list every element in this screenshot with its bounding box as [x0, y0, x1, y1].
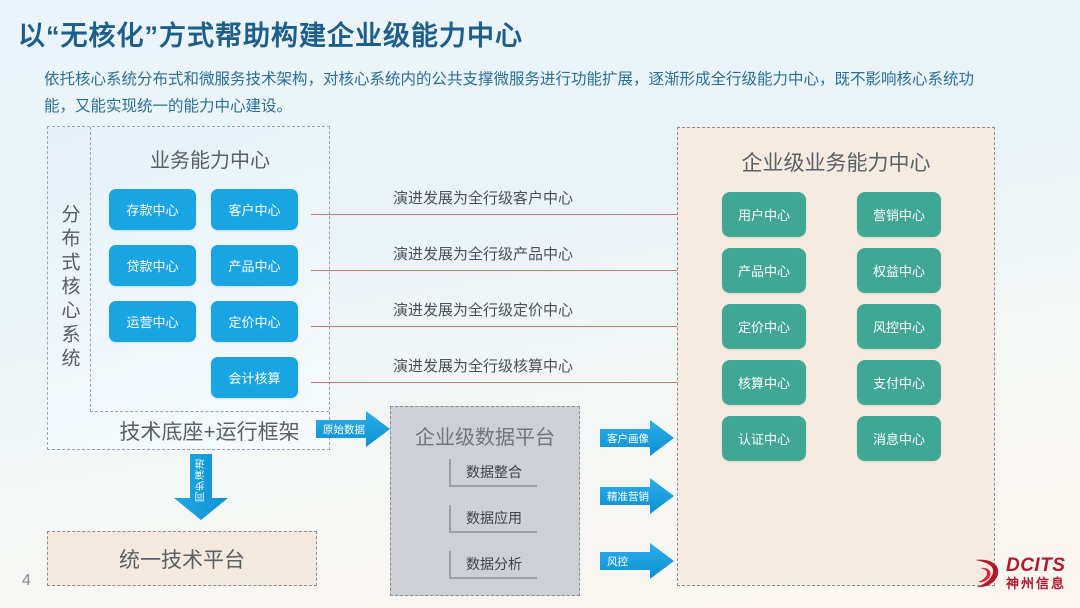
data-platform-item-application[interactable]: 数据应用	[449, 505, 537, 533]
green-box-label: 权益中心	[873, 261, 925, 280]
data-platform-item-label: 数据应用	[466, 508, 522, 528]
sync-evolution-arrow: 同步演进	[174, 454, 228, 520]
green-box-label: 消息中心	[873, 429, 925, 448]
evolution-arrow-4-line	[311, 382, 723, 383]
blue-box-loan-center[interactable]: 贷款中心	[109, 245, 196, 286]
green-box-risk-control-center[interactable]: 风控中心	[857, 304, 941, 349]
green-box-label: 核算中心	[738, 373, 790, 392]
green-box-marketing-center[interactable]: 营销中心	[857, 192, 941, 237]
dcits-logo-icon	[971, 556, 1001, 590]
blue-box-accounting[interactable]: 会计核算	[211, 357, 298, 398]
evolution-arrow-3-line	[311, 326, 723, 327]
green-box-pricing-center[interactable]: 定价中心	[722, 304, 806, 349]
business-capability-center-panel: 业务能力中心 存款中心 贷款中心 运营中心 客户中心 产品中心 定价中心	[90, 127, 329, 412]
data-platform-item-integration[interactable]: 数据整合	[449, 459, 537, 487]
precision-marketing-arrow: 精准营销	[600, 478, 674, 514]
precision-marketing-arrow-label: 精准营销	[600, 478, 649, 514]
raw-data-arrow: 原始数据	[316, 411, 390, 447]
risk-control-arrow: 风控	[600, 543, 674, 579]
green-box-payment-center[interactable]: 支付中心	[857, 360, 941, 405]
raw-data-arrow-label: 原始数据	[316, 411, 365, 447]
evolution-arrow-1-line	[311, 214, 723, 215]
slide: 以“无核化”方式帮助构建企业级能力中心 依托核心系统分布式和微服务技术架构，对核…	[0, 0, 1080, 608]
data-platform-item-label: 数据分析	[466, 554, 522, 574]
blue-box-label: 产品中心	[228, 256, 280, 275]
brand-name-cn: 神州信息	[1006, 577, 1066, 590]
green-box-accounting-center[interactable]: 核算中心	[722, 360, 806, 405]
customer-profile-arrow: 客户画像	[600, 420, 674, 456]
blue-box-label: 定价中心	[228, 312, 280, 331]
sync-evolution-arrow-label: 同步演进	[194, 458, 209, 502]
unified-tech-platform-label: 统一技术平台	[119, 544, 245, 574]
blue-box-product-center[interactable]: 产品中心	[211, 245, 298, 286]
enterprise-capability-center-title: 企业级业务能力中心	[678, 147, 994, 177]
tech-base-label: 技术底座+运行框架	[89, 411, 330, 450]
distributed-core-system-label: 分布式核心系统	[48, 127, 90, 449]
customer-profile-arrow-label: 客户画像	[600, 420, 649, 456]
blue-box-label: 贷款中心	[126, 256, 178, 275]
evolution-arrow-3-label: 演进发展为全行级定价中心	[393, 299, 573, 320]
unified-tech-platform-box: 统一技术平台	[47, 531, 317, 586]
blue-box-operation-center[interactable]: 运营中心	[109, 301, 196, 342]
green-box-benefits-center[interactable]: 权益中心	[857, 248, 941, 293]
blue-box-customer-center[interactable]: 客户中心	[211, 189, 298, 230]
page-subtitle: 依托核心系统分布式和微服务技术架构，对核心系统内的公共支撑微服务进行功能扩展，逐…	[44, 66, 974, 120]
risk-control-arrow-label: 风控	[600, 543, 628, 579]
green-box-auth-center[interactable]: 认证中心	[722, 416, 806, 461]
green-box-label: 支付中心	[873, 373, 925, 392]
green-box-label: 认证中心	[738, 429, 790, 448]
brand-text: DCITS 神州信息	[1006, 556, 1066, 590]
evolution-arrow-1-label: 演进发展为全行级客户中心	[393, 187, 573, 208]
enterprise-capability-center-panel: 企业级业务能力中心 用户中心 产品中心 定价中心 核算中心 认证中心 营销中心 …	[677, 127, 995, 586]
blue-box-label: 会计核算	[228, 368, 280, 387]
page-title: 以“无核化”方式帮助构建企业级能力中心	[18, 14, 523, 53]
data-platform-item-label: 数据整合	[466, 462, 522, 482]
enterprise-data-platform-panel: 企业级数据平台 数据整合 数据应用 数据分析	[390, 406, 580, 596]
blue-box-label: 客户中心	[228, 200, 280, 219]
green-box-label: 用户中心	[738, 205, 790, 224]
green-box-label: 产品中心	[738, 261, 790, 280]
green-box-label: 定价中心	[738, 317, 790, 336]
green-box-message-center[interactable]: 消息中心	[857, 416, 941, 461]
enterprise-data-platform-title: 企业级数据平台	[391, 421, 579, 450]
blue-box-pricing-center[interactable]: 定价中心	[211, 301, 298, 342]
evolution-arrow-2-label: 演进发展为全行级产品中心	[393, 243, 573, 264]
evolution-arrow-4-label: 演进发展为全行级核算中心	[393, 355, 573, 376]
blue-box-label: 存款中心	[126, 200, 178, 219]
blue-box-deposit-center[interactable]: 存款中心	[109, 189, 196, 230]
green-box-label: 营销中心	[873, 205, 925, 224]
page-number: 4	[22, 572, 31, 590]
sync-evolution-arrow-text-wrap: 同步演进	[174, 454, 228, 506]
evolution-arrow-2-line	[311, 270, 723, 271]
brand-name-en: DCITS	[1006, 556, 1066, 575]
brand-logo: DCITS 神州信息	[971, 556, 1066, 590]
distributed-core-system-panel: 分布式核心系统 业务能力中心 存款中心 贷款中心 运营中心 客户中心 产品中心 …	[47, 126, 330, 450]
business-capability-center-title: 业务能力中心	[91, 144, 329, 173]
green-box-user-center[interactable]: 用户中心	[722, 192, 806, 237]
green-box-label: 风控中心	[873, 317, 925, 336]
blue-box-label: 运营中心	[126, 312, 178, 331]
data-platform-item-analysis[interactable]: 数据分析	[449, 551, 537, 579]
distributed-core-system-label-text: 分布式核心系统	[60, 204, 79, 372]
green-box-product-center[interactable]: 产品中心	[722, 248, 806, 293]
